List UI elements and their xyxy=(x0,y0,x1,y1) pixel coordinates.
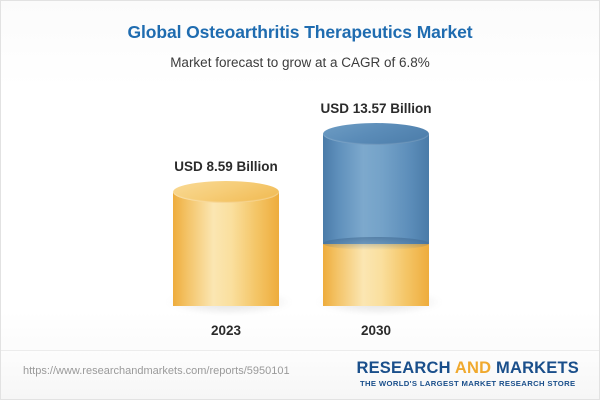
logo-wordmark: RESEARCH AND MARKETS xyxy=(356,359,579,378)
category-label-2030: 2030 xyxy=(283,323,469,338)
cylinder-top-cap-2030 xyxy=(323,123,429,145)
cylinder-body-base-2023 xyxy=(173,192,279,306)
footer: https://www.researchandmarkets.com/repor… xyxy=(1,350,599,399)
cylinder-2030 xyxy=(323,123,429,306)
infographic-card: Global Osteoarthritis Therapeutics Marke… xyxy=(0,0,600,400)
logo-tagline: THE WORLD'S LARGEST MARKET RESEARCH STOR… xyxy=(356,379,579,388)
logo-word-markets: MARKETS xyxy=(491,359,579,377)
cylinder-body-base-2030 xyxy=(323,237,429,306)
report-url[interactable]: https://www.researchandmarkets.com/repor… xyxy=(23,365,290,377)
data-label-2023: USD 8.59 Billion xyxy=(133,159,319,174)
logo-word-and: AND xyxy=(455,359,491,377)
cylinder-2023 xyxy=(173,181,279,306)
cylinder-top-cap-2023 xyxy=(173,181,279,203)
logo-word-research: RESEARCH xyxy=(356,359,454,377)
data-label-2030: USD 13.57 Billion xyxy=(283,101,469,116)
research-and-markets-logo[interactable]: RESEARCH AND MARKETS THE WORLD'S LARGEST… xyxy=(356,359,579,388)
chart-plot-area: USD 8.59 Billion 2023 USD 13.57 Billion xyxy=(1,1,600,353)
cylinder-body-growth-2030 xyxy=(323,134,429,244)
